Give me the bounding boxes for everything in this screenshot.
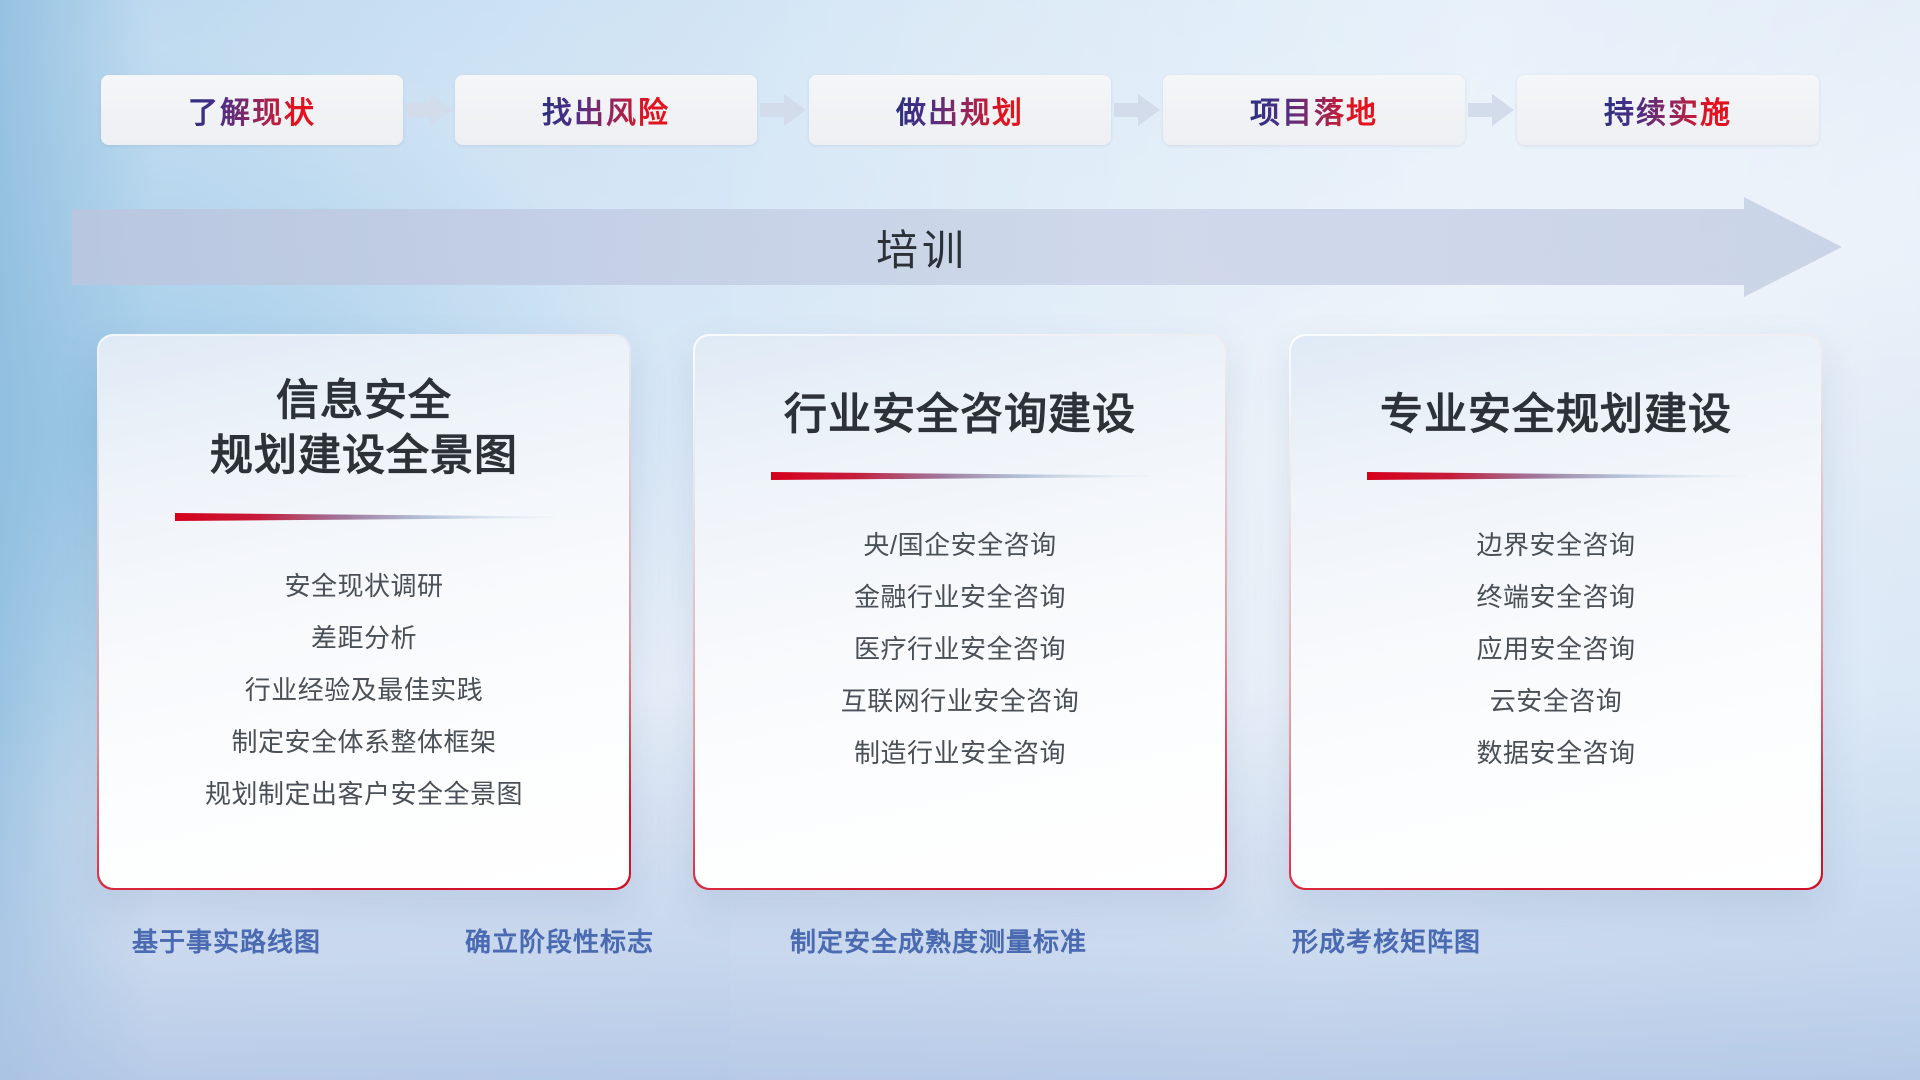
footer-label-1: 确立阶段性标志 bbox=[465, 910, 654, 970]
step-chip-surface: 持续实施 bbox=[1517, 75, 1819, 145]
card-list-item: 制造行业安全咨询 bbox=[854, 727, 1066, 779]
card-list-item: 终端安全咨询 bbox=[1476, 571, 1635, 623]
footer-label-0: 基于事实路线图 bbox=[132, 910, 321, 970]
step-connector-arrow-3 bbox=[1465, 70, 1517, 150]
card-list-item: 边界安全咨询 bbox=[1476, 519, 1635, 571]
card-list-item: 医疗行业安全咨询 bbox=[854, 623, 1066, 675]
step-connector-arrow-0 bbox=[403, 70, 455, 150]
card-surface: 专业安全规划建设边界安全咨询终端安全咨询应用安全咨询云安全咨询数据安全咨询 bbox=[1291, 336, 1821, 888]
step-connector-arrow-2 bbox=[1111, 70, 1163, 150]
step-chip-4[interactable]: 持续实施 bbox=[1517, 75, 1819, 145]
card-list-item: 制定安全体系整体框架 bbox=[231, 716, 496, 768]
step-connector-arrow-1 bbox=[757, 70, 809, 150]
card-list-item: 差距分析 bbox=[311, 612, 417, 664]
card-list-item: 央/国企安全咨询 bbox=[863, 519, 1056, 571]
step-chip-0[interactable]: 了解现状 bbox=[101, 75, 403, 145]
arrow-right-icon bbox=[1114, 93, 1160, 127]
step-chip-2[interactable]: 做出规划 bbox=[809, 75, 1111, 145]
card-title: 信息安全 规划建设全景图 bbox=[210, 374, 518, 484]
step-chip-surface: 做出规划 bbox=[809, 75, 1111, 145]
card-0[interactable]: 信息安全 规划建设全景图安全现状调研差距分析行业经验及最佳实践制定安全体系整体框… bbox=[97, 334, 631, 890]
tapered-divider-icon bbox=[769, 469, 1151, 483]
card-title: 专业安全规划建设 bbox=[1380, 388, 1732, 443]
card-divider bbox=[173, 510, 555, 524]
card-list-item: 安全现状调研 bbox=[284, 560, 443, 612]
step-label: 了解现状 bbox=[188, 88, 316, 132]
training-banner: 培训 bbox=[72, 197, 1842, 297]
arrow-right-icon bbox=[406, 93, 452, 127]
arrow-right-icon bbox=[760, 93, 806, 127]
footer-label-3: 形成考核矩阵图 bbox=[1292, 910, 1481, 970]
card-list-item: 云安全咨询 bbox=[1490, 675, 1623, 727]
step-chip-surface: 找出风险 bbox=[455, 75, 757, 145]
card-list-item: 应用安全咨询 bbox=[1476, 623, 1635, 675]
step-label: 持续实施 bbox=[1604, 88, 1732, 132]
tapered-divider-icon bbox=[1365, 469, 1747, 483]
card-list: 边界安全咨询终端安全咨询应用安全咨询云安全咨询数据安全咨询 bbox=[1291, 519, 1821, 779]
process-step-row: 了解现状 找出风险 做出规划 项目落地 持续实施 bbox=[0, 70, 1920, 150]
card-title: 行业安全咨询建设 bbox=[784, 388, 1136, 443]
step-label: 找出风险 bbox=[542, 88, 670, 132]
card-list: 安全现状调研差距分析行业经验及最佳实践制定安全体系整体框架规划制定出客户安全全景… bbox=[99, 560, 629, 820]
footer-label-row: 基于事实路线图确立阶段性标志制定安全成熟度测量标准形成考核矩阵图 bbox=[0, 910, 1920, 970]
card-divider bbox=[769, 469, 1151, 483]
arrow-right-icon bbox=[1468, 93, 1514, 127]
card-surface: 信息安全 规划建设全景图安全现状调研差距分析行业经验及最佳实践制定安全体系整体框… bbox=[99, 336, 629, 888]
footer-label-2: 制定安全成熟度测量标准 bbox=[790, 910, 1087, 970]
card-list-item: 互联网行业安全咨询 bbox=[841, 675, 1080, 727]
banner-label: 培训 bbox=[72, 197, 1772, 297]
step-chip-3[interactable]: 项目落地 bbox=[1163, 75, 1465, 145]
card-list-item: 规划制定出客户安全全景图 bbox=[205, 768, 523, 820]
step-chip-surface: 了解现状 bbox=[101, 75, 403, 145]
step-label: 项目落地 bbox=[1250, 88, 1378, 132]
step-label: 做出规划 bbox=[896, 88, 1024, 132]
card-list-item: 数据安全咨询 bbox=[1476, 727, 1635, 779]
card-list-item: 金融行业安全咨询 bbox=[854, 571, 1066, 623]
card-2[interactable]: 专业安全规划建设边界安全咨询终端安全咨询应用安全咨询云安全咨询数据安全咨询 bbox=[1289, 334, 1823, 890]
step-chip-surface: 项目落地 bbox=[1163, 75, 1465, 145]
card-1[interactable]: 行业安全咨询建设央/国企安全咨询金融行业安全咨询医疗行业安全咨询互联网行业安全咨… bbox=[693, 334, 1227, 890]
card-row: 信息安全 规划建设全景图安全现状调研差距分析行业经验及最佳实践制定安全体系整体框… bbox=[0, 334, 1920, 886]
step-chip-1[interactable]: 找出风险 bbox=[455, 75, 757, 145]
tapered-divider-icon bbox=[173, 510, 555, 524]
card-surface: 行业安全咨询建设央/国企安全咨询金融行业安全咨询医疗行业安全咨询互联网行业安全咨… bbox=[695, 336, 1225, 888]
card-divider bbox=[1365, 469, 1747, 483]
card-list-item: 行业经验及最佳实践 bbox=[245, 664, 484, 716]
card-list: 央/国企安全咨询金融行业安全咨询医疗行业安全咨询互联网行业安全咨询制造行业安全咨… bbox=[695, 519, 1225, 779]
